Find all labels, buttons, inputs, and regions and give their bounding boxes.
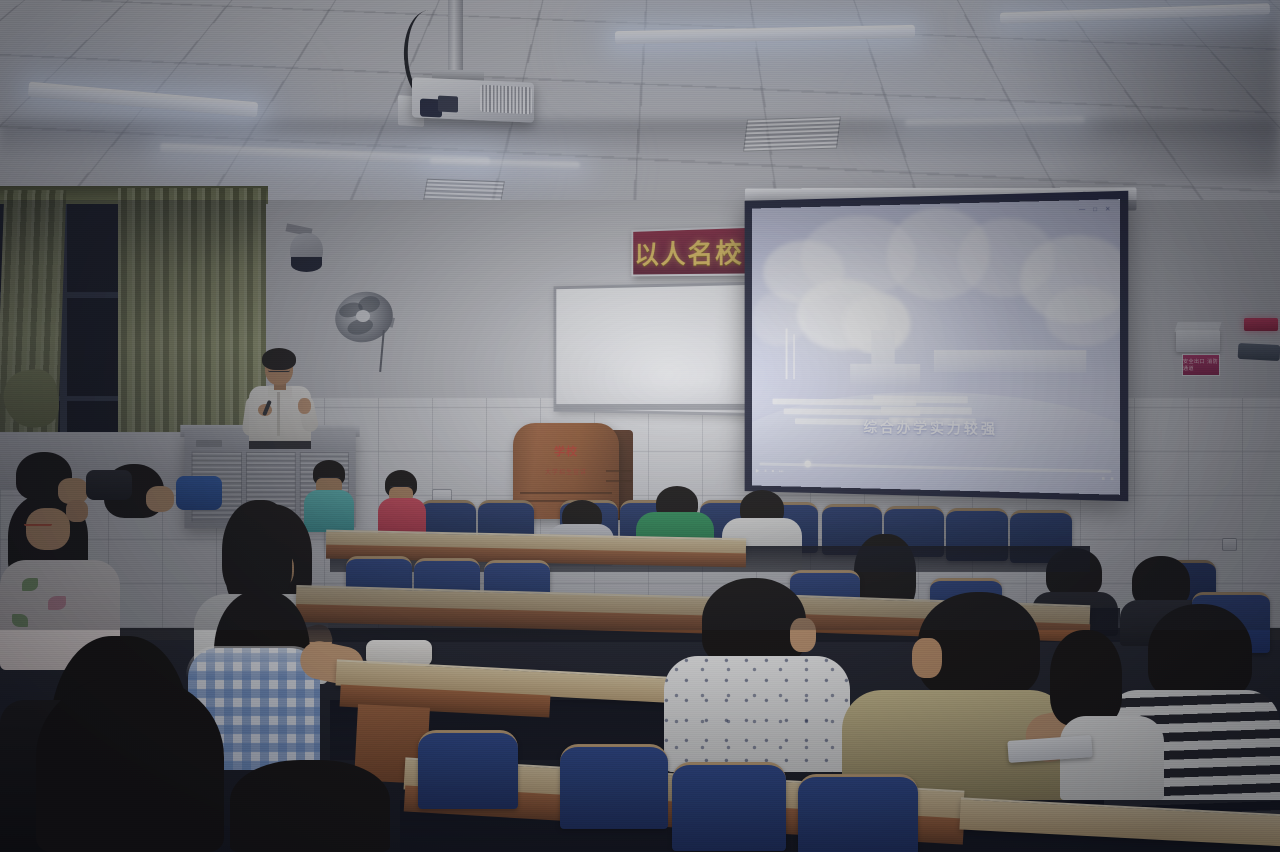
seat[interactable] [418,730,518,809]
projector-mount-rod [448,0,463,78]
dotted-shirt [664,656,850,772]
projector-vent-grille [480,85,532,115]
seat[interactable] [560,744,668,829]
ceiling-vent [743,116,841,151]
projector-bracket [438,95,458,112]
lecture-hall-photo: 安全出口 消防通道 以人名校 ProjectScreen [0,0,1280,852]
student-ear [912,638,942,678]
seat[interactable] [672,762,786,851]
seat[interactable] [798,774,918,852]
wall-vignette [0,200,1280,630]
ceiling-shadow-right [920,0,1280,180]
